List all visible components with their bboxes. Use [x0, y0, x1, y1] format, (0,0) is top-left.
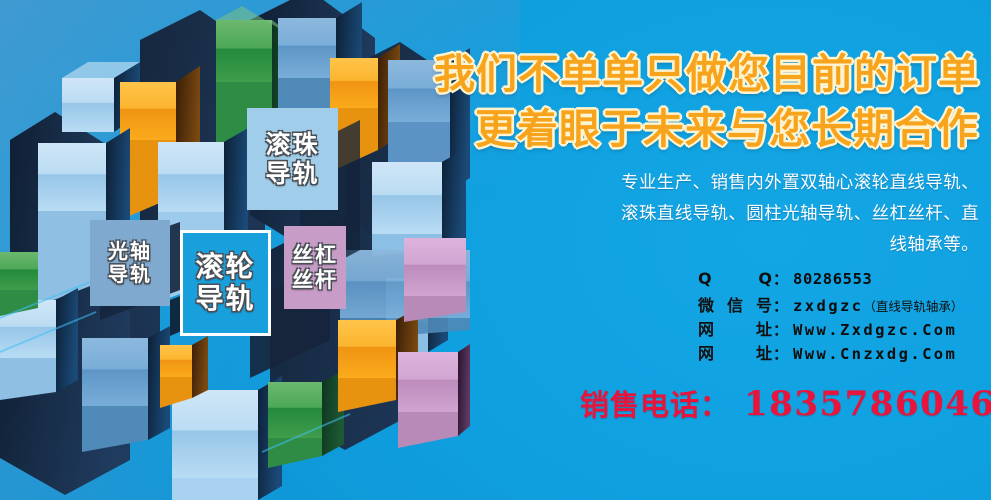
contact-colon: ： — [773, 343, 788, 364]
product-cube-line1: 光轴 — [108, 240, 152, 263]
contact-label-qq: Q Q — [698, 269, 772, 288]
product-cube-ball-guide-rail: 滚珠 导轨 — [247, 108, 338, 210]
contact-label-wechat: 微 信 号 — [698, 292, 772, 316]
sales-phone-block: 销售电话： 18357860469 — [580, 382, 991, 424]
contact-value-website-1[interactable]: Www.Zxdgzc.Com — [793, 321, 957, 339]
description-line-3: 线轴承等。 — [549, 230, 979, 261]
description-line-1: 专业生产、销售内外置双轴心滚轮直线导轨、 — [549, 168, 979, 199]
product-cube-line2: 导轨 — [265, 159, 319, 188]
contact-value-qq: 80286553 — [793, 270, 872, 288]
contact-row-website-1: 网 址 ： Www.Zxdgzc.Com — [698, 316, 991, 340]
description-paragraph: 专业生产、销售内外置双轴心滚轮直线导轨、 滚珠直线导轨、圆柱光轴导轨、丝杠丝杆、… — [549, 168, 979, 261]
contact-colon: ： — [773, 295, 788, 316]
contact-label-website: 网 址 — [698, 316, 772, 340]
product-cube-line1: 滚珠 — [265, 130, 319, 159]
sales-phone-number: 18357860469 — [744, 384, 991, 424]
product-cube-roller-guide-rail: 滚轮 导轨 — [180, 230, 271, 336]
contact-value-website-2[interactable]: Www.Cnzxdg.Com — [793, 345, 957, 363]
contact-label-website: 网 址 — [698, 340, 772, 364]
product-cube-optical-axis-guide-rail: 光轴 导轨 — [90, 220, 170, 306]
product-cube-line1: 丝杠 — [292, 243, 338, 267]
contact-note-wechat: （直线导轨轴承） — [863, 296, 963, 315]
product-cube-line2: 导轨 — [108, 263, 152, 286]
contact-value-wechat: zxdgzc — [793, 297, 863, 315]
promo-banner: 滚珠 导轨 光轴 导轨 滚轮 导轨 丝杠 丝杆 我们不单单只做您目前的订单 更着… — [0, 0, 991, 500]
contact-colon: ： — [773, 319, 788, 340]
product-cube-lead-screw: 丝杠 丝杆 — [284, 226, 346, 309]
sales-phone-label: 销售电话： — [580, 382, 730, 424]
contact-info-block: Q Q ： 80286553 微 信 号 ： zxdgzc （直线导轨轴承） 网 — [698, 268, 991, 364]
contact-row-wechat: 微 信 号 ： zxdgzc （直线导轨轴承） — [698, 292, 991, 316]
headline-line-2: 更着眼于未来与您长期合作 — [434, 95, 979, 155]
product-cube-line2: 导轨 — [195, 283, 255, 315]
product-cube-line2: 丝杆 — [292, 268, 338, 292]
contact-colon: ： — [773, 268, 788, 289]
marketing-copy-panel: 我们不单单只做您目前的订单 更着眼于未来与您长期合作 专业生产、销售内外置双轴心… — [440, 0, 991, 500]
headline-line-1: 我们不单单只做您目前的订单 — [434, 40, 979, 100]
product-cube-line1: 滚轮 — [195, 251, 255, 283]
contact-row-qq: Q Q ： 80286553 — [698, 268, 991, 292]
contact-row-website-2: 网 址 ： Www.Cnzxdg.Com — [698, 340, 991, 364]
description-line-2: 滚珠直线导轨、圆柱光轴导轨、丝杠丝杆、直 — [549, 199, 979, 230]
